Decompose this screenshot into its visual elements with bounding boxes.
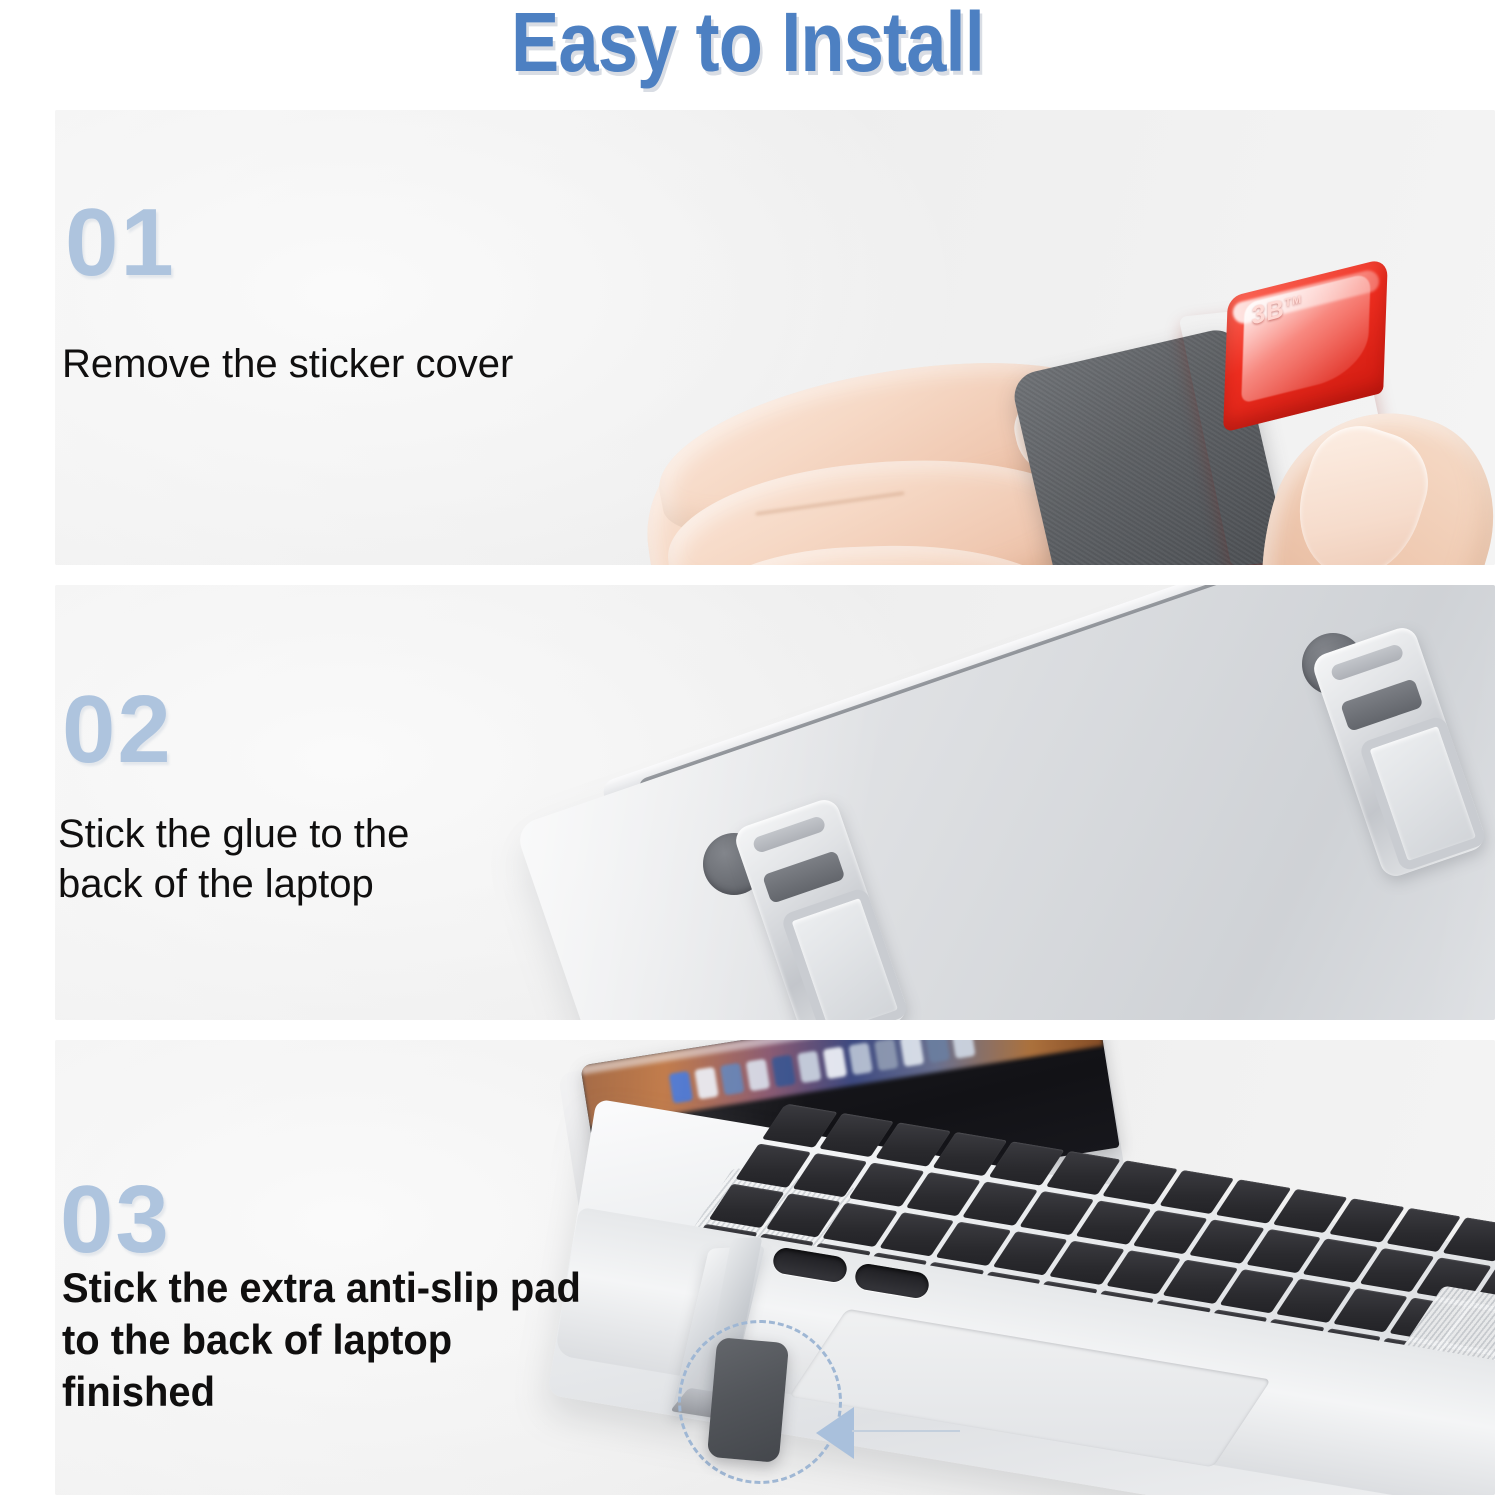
step-2-number: 02 bbox=[62, 682, 173, 778]
step-2-description: Stick the glue to the back of the laptop bbox=[58, 810, 409, 909]
callout-arrow-icon bbox=[816, 1407, 854, 1459]
infographic-page: Easy to Install 3BTM bbox=[0, 0, 1495, 1495]
step-1-number: 01 bbox=[65, 195, 176, 291]
step-panel-1: 3BTM bbox=[55, 110, 1495, 565]
callout-anti-slip-pad bbox=[707, 1337, 789, 1463]
step-3-number: 03 bbox=[60, 1172, 171, 1268]
hand-illustration: 3BTM bbox=[55, 110, 1495, 565]
step-panel-2 bbox=[55, 585, 1495, 1020]
step-1-photo: 3BTM bbox=[55, 110, 1495, 565]
step-3-description: Stick the extra anti-slip pad to the bac… bbox=[62, 1262, 581, 1418]
page-title: Easy to Install bbox=[105, 0, 1391, 91]
step-1-description: Remove the sticker cover bbox=[62, 340, 513, 390]
callout-leader-line bbox=[852, 1430, 960, 1432]
step-2-photo bbox=[55, 585, 1495, 1020]
